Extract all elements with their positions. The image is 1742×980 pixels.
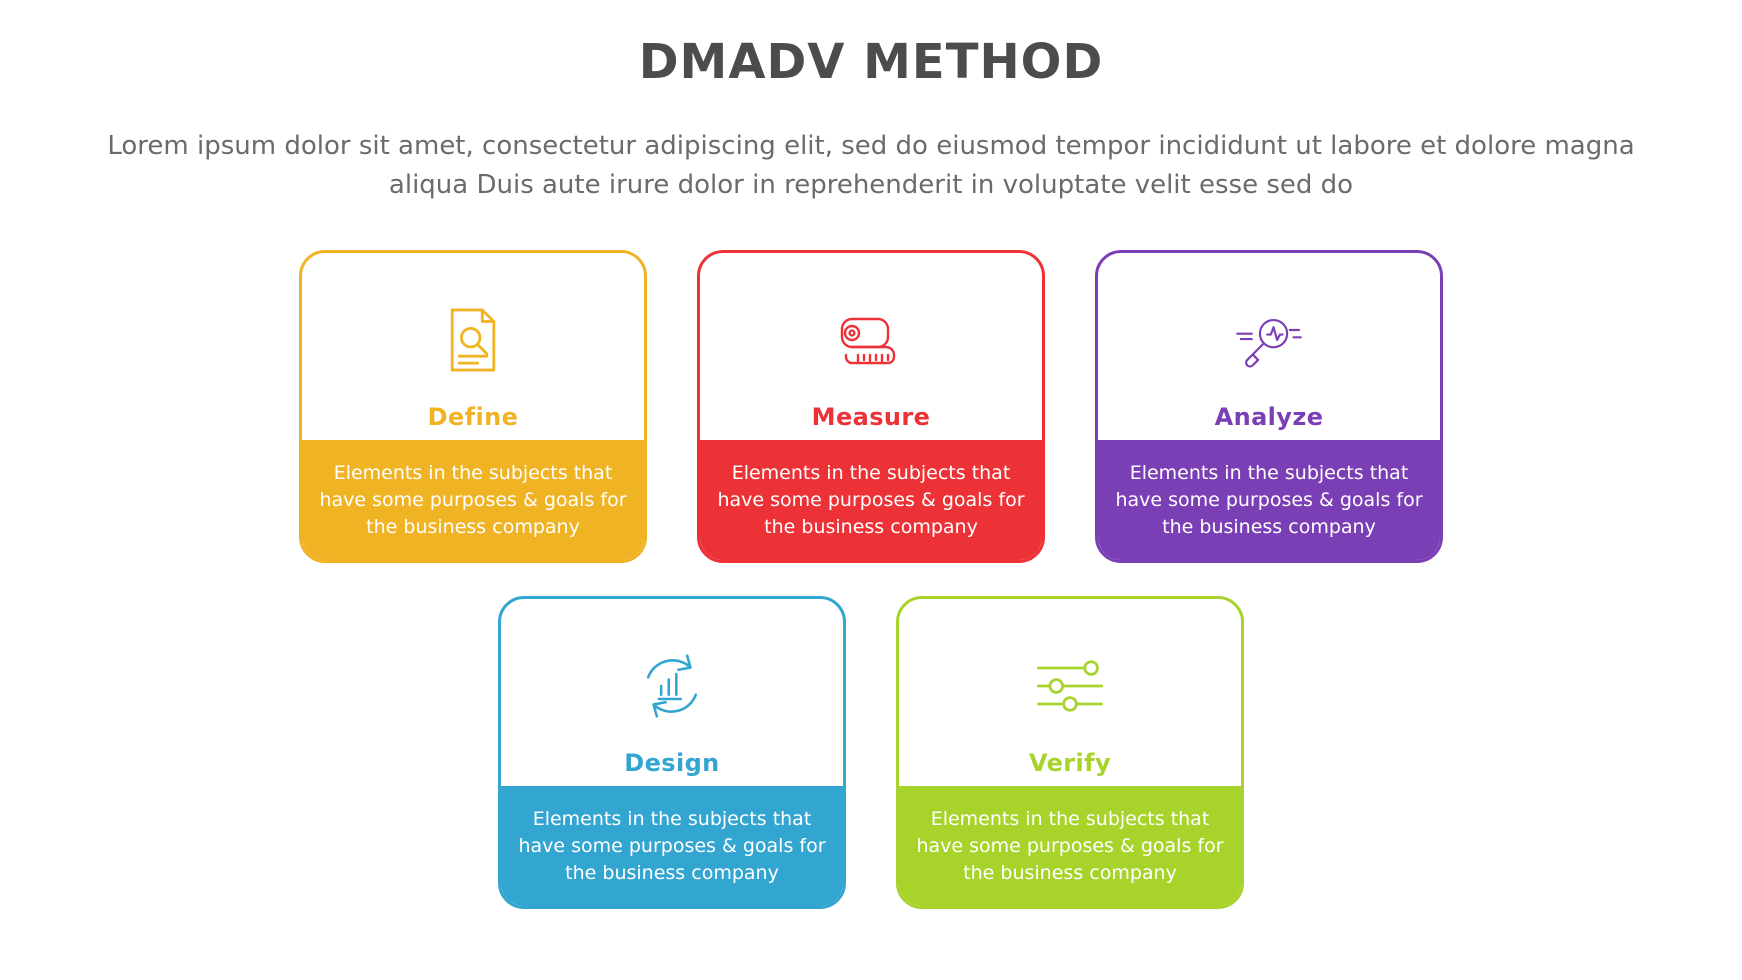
- cards-row-1: Define Elements in the subjects that hav…: [0, 250, 1742, 563]
- card-design-label: Design: [501, 749, 843, 777]
- card-measure[interactable]: Measure Elements in the subjects that ha…: [697, 250, 1045, 563]
- card-define[interactable]: Define Elements in the subjects that hav…: [299, 250, 647, 563]
- card-verify-label: Verify: [899, 749, 1241, 777]
- card-verify-description: Elements in the subjects that have some …: [915, 806, 1225, 887]
- cards-container: Define Elements in the subjects that hav…: [0, 250, 1742, 909]
- settings-sliders-icon: [1031, 647, 1109, 725]
- card-design-description: Elements in the subjects that have some …: [517, 806, 827, 887]
- cards-row-2: Design Elements in the subjects that hav…: [0, 596, 1742, 909]
- measuring-tape-icon: [832, 301, 910, 379]
- infographic-page: DMADV METHOD Lorem ipsum dolor sit amet,…: [0, 0, 1742, 980]
- card-analyze-body: Elements in the subjects that have some …: [1098, 440, 1440, 560]
- card-verify[interactable]: Verify Elements in the subjects that hav…: [896, 596, 1244, 909]
- card-design-body: Elements in the subjects that have some …: [501, 786, 843, 906]
- card-analyze-description: Elements in the subjects that have some …: [1114, 460, 1424, 541]
- card-analyze[interactable]: Analyze Elements in the subjects that ha…: [1095, 250, 1443, 563]
- refresh-chart-icon: [633, 647, 711, 725]
- document-search-icon: [434, 301, 512, 379]
- card-verify-body: Elements in the subjects that have some …: [899, 786, 1241, 906]
- magnifier-pulse-icon: [1230, 301, 1308, 379]
- card-design[interactable]: Design Elements in the subjects that hav…: [498, 596, 846, 909]
- card-define-description: Elements in the subjects that have some …: [318, 460, 628, 541]
- card-measure-description: Elements in the subjects that have some …: [716, 460, 1026, 541]
- card-measure-label: Measure: [700, 403, 1042, 431]
- card-measure-body: Elements in the subjects that have some …: [700, 440, 1042, 560]
- card-define-body: Elements in the subjects that have some …: [302, 440, 644, 560]
- card-analyze-label: Analyze: [1098, 403, 1440, 431]
- page-title: DMADV METHOD: [0, 34, 1742, 90]
- card-define-label: Define: [302, 403, 644, 431]
- page-subtitle: Lorem ipsum dolor sit amet, consectetur …: [0, 127, 1742, 205]
